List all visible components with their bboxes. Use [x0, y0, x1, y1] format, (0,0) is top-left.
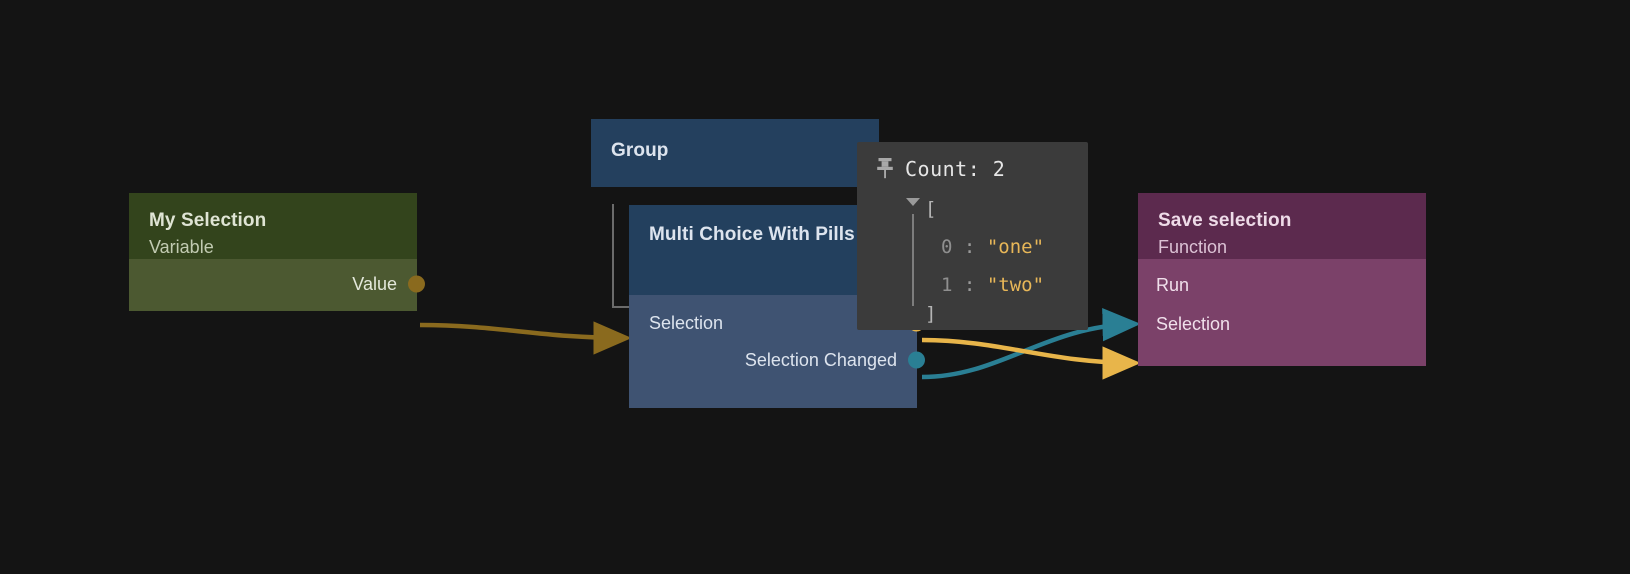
input-port-label: Selection	[649, 313, 723, 333]
output-port-value[interactable]: Value	[129, 270, 417, 298]
node-graph-canvas[interactable]: My Selection Variable Value Group Multi …	[0, 0, 1630, 574]
node-header[interactable]: Group	[591, 119, 879, 187]
chevron-down-icon[interactable]	[906, 198, 920, 206]
tree-entry-separator: :	[964, 274, 975, 296]
output-port-label: Value	[352, 274, 397, 294]
tooltip-value-tree: [ 0 : "one" 1 : "two" ]	[857, 190, 1088, 330]
node-subtitle: Function	[1158, 235, 1406, 259]
node-subtitle: Variable	[149, 235, 397, 259]
node-title: Group	[611, 139, 859, 163]
wire-value-to-selection	[420, 325, 625, 338]
input-port-run[interactable]: Run	[1138, 271, 1426, 299]
tree-close-bracket: ]	[909, 304, 1088, 330]
input-port-label: Run	[1156, 275, 1189, 295]
tree-entry[interactable]: 0 : "one"	[909, 228, 1088, 266]
tree-entry-value: "two"	[987, 274, 1044, 296]
wire-selection-to-selection	[922, 340, 1134, 363]
output-port-selection-changed[interactable]: Selection Changed	[629, 346, 917, 374]
tooltip-count-label: Count: 2	[905, 157, 1005, 181]
value-inspector-tooltip[interactable]: Count: 2 [ 0 : "one" 1 : "two" ]	[857, 142, 1088, 330]
tree-entry-index: 1	[941, 274, 952, 296]
tree-entry[interactable]: 1 : "two"	[909, 266, 1088, 304]
tooltip-header: Count: 2	[857, 154, 1088, 184]
node-save-selection[interactable]: Save selection Function Run Selection	[1138, 193, 1426, 366]
tree-entry-value: "one"	[987, 236, 1044, 258]
tree-open-bracket: [	[909, 190, 1088, 228]
node-title: My Selection	[149, 209, 397, 233]
node-group[interactable]: Group	[591, 119, 879, 187]
tree-guide-line	[912, 214, 914, 306]
output-port-dot[interactable]	[408, 276, 425, 293]
input-port-label: Selection	[1156, 314, 1230, 334]
input-port-selection[interactable]: Selection	[1138, 310, 1426, 338]
node-title: Save selection	[1158, 209, 1406, 233]
node-my-selection[interactable]: My Selection Variable Value	[129, 193, 417, 311]
tree-entry-index: 0	[941, 236, 952, 258]
output-port-dot-selection-changed[interactable]	[908, 352, 925, 369]
pushpin-icon[interactable]	[875, 157, 895, 179]
node-body: Value	[129, 259, 417, 311]
node-body: Run Selection	[1138, 259, 1426, 366]
tree-entry-separator: :	[964, 236, 975, 258]
output-port-label: Selection Changed	[745, 350, 897, 370]
node-header[interactable]: My Selection Variable	[129, 193, 417, 259]
node-header[interactable]: Save selection Function	[1138, 193, 1426, 259]
